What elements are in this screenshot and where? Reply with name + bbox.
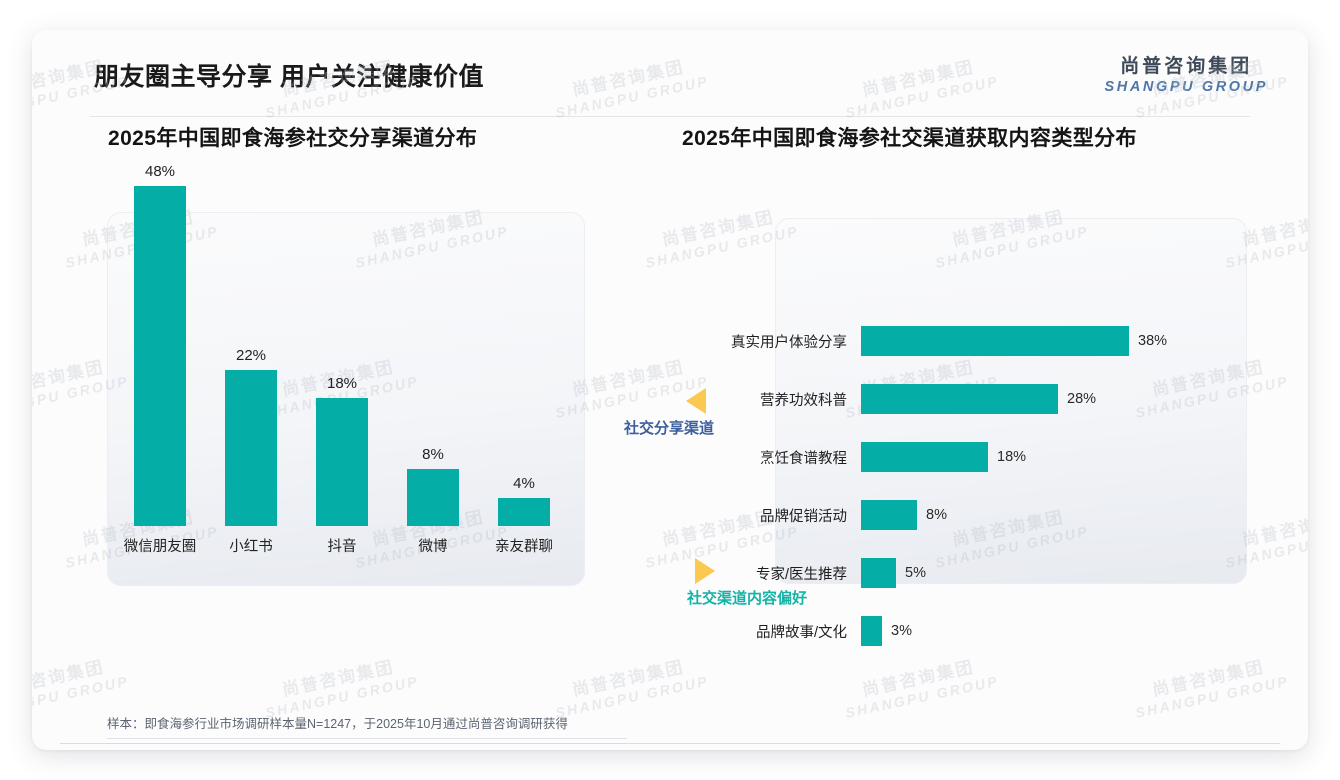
bar-value-label: 28% [1058,391,1096,407]
bar [861,558,896,588]
bar-category-label: 小红书 [203,535,299,556]
bar-value-label: 8% [422,446,444,463]
bar [407,469,459,526]
bar [861,326,1129,356]
bar-category-label: 抖音 [294,535,390,556]
watermark-en: SHANGPU GROUP [1134,672,1291,721]
bar-category-label: 微信朋友圈 [112,535,208,556]
bar-value-label: 5% [896,565,926,581]
brand-logo: 尚普咨询集团 SHANGPU GROUP [1104,56,1268,96]
bar-value-label: 4% [513,475,535,492]
bar-column: 22% [225,347,277,526]
bar-category-label: 品牌故事/文化 [682,621,861,642]
bar-column: 48% [134,163,186,526]
bar-row: 烹饪食谱教程18% [682,440,1026,474]
bar [861,384,1058,414]
bar-row: 真实用户体验分享38% [682,324,1167,358]
callout-social-share-channel-label: 社交分享渠道 [624,417,714,438]
bar [861,500,917,530]
slide-header: 朋友圈主导分享 用户关注健康价值 尚普咨询集团 SHANGPU GROUP [32,30,1308,122]
slide-footer: ©2025.12 SHANGPU GROUP www.shangpu-china… [32,746,1308,750]
bar [861,442,988,472]
bar-value-label: 3% [882,623,912,639]
callout-content-preference-label: 社交渠道内容偏好 [687,587,807,608]
bar-value-label: 8% [917,507,947,523]
bar [134,186,186,526]
content-type-bar-chart: 真实用户体验分享38%营养功效科普28%烹饪食谱教程18%品牌促销活动8%专家/… [682,116,1282,586]
bar [225,370,277,526]
logo-english-text: SHANGPU GROUP [1104,78,1268,96]
bar-column: 8% [407,446,459,526]
source-note-divider [107,738,627,739]
bar-category-label: 烹饪食谱教程 [682,447,861,468]
watermark-en: SHANGPU GROUP [844,672,1001,721]
bar-column: 18% [316,375,368,526]
bar [498,498,550,526]
triangle-left-icon [686,388,706,414]
bar-category-label: 品牌促销活动 [682,505,861,526]
watermark-en: SHANGPU GROUP [554,672,711,721]
bar-value-label: 22% [236,347,266,364]
bar-column: 4% [498,475,550,526]
social-share-channel-bar-chart: 48%微信朋友圈22%小红书18%抖音8%微博4%亲友群聊 [94,116,654,586]
callout-social-share-channel: 社交分享渠道 [624,388,714,438]
logo-chinese-text: 尚普咨询集团 [1104,56,1268,78]
bar-value-label: 48% [145,163,175,180]
bar-row: 品牌故事/文化3% [682,614,912,648]
bar [316,398,368,526]
slide-card: 朋友圈主导分享 用户关注健康价值 尚普咨询集团 SHANGPU GROUP 尚普… [32,30,1308,750]
bar [861,616,882,646]
bar-value-label: 18% [988,449,1026,465]
bar-row: 营养功效科普28% [682,382,1096,416]
page-title: 朋友圈主导分享 用户关注健康价值 [94,57,484,93]
bar-value-label: 18% [327,375,357,392]
bar-value-label: 38% [1129,333,1167,349]
bar-category-label: 亲友群聊 [476,535,572,556]
bar-row: 品牌促销活动8% [682,498,947,532]
bar-category-label: 真实用户体验分享 [682,331,861,352]
triangle-right-icon [695,558,715,584]
bar-category-label: 微博 [385,535,481,556]
footer-divider [60,743,1280,744]
callout-content-preference: 社交渠道内容偏好 [687,558,807,608]
source-note: 样本：即食海参行业市场调研样本量N=1247，于2025年10月通过尚普咨询调研… [107,713,568,732]
